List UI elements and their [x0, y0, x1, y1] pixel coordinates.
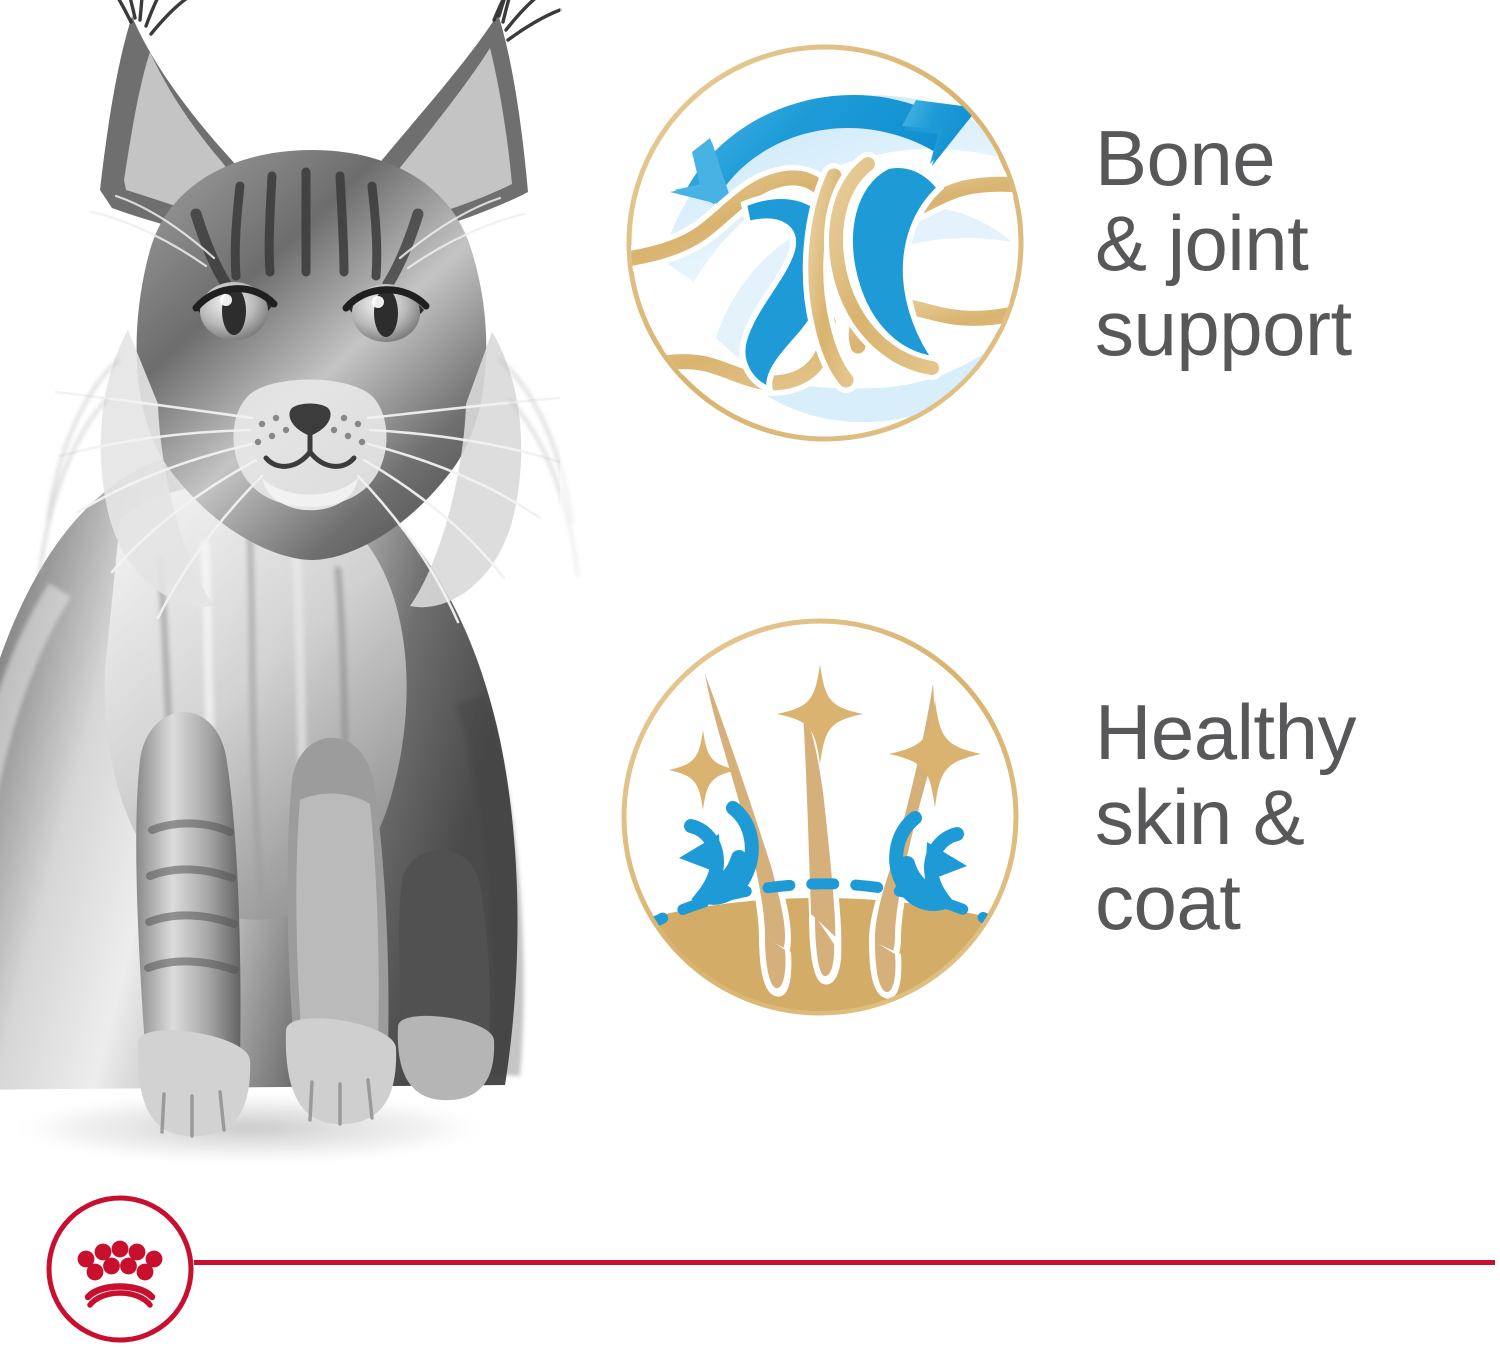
- maine-coon-cat-photo: [0, 0, 620, 1200]
- benefit-label-skin-coat: Healthy skin & coat: [1025, 690, 1455, 945]
- benefit-label-bone-joint: Bone & joint support: [1030, 116, 1460, 371]
- brand-rule: [194, 1260, 1495, 1265]
- royal-canin-crown-logo: [44, 1193, 196, 1345]
- brand-footer: [0, 1190, 1500, 1347]
- benefit-item-bone-joint: Bone & joint support: [620, 38, 1460, 448]
- bone-joint-icon: [620, 38, 1030, 448]
- benefit-item-skin-coat: Healthy skin & coat: [615, 612, 1455, 1022]
- product-benefits-panel: Bone & joint support: [0, 0, 1500, 1347]
- healthy-skin-coat-icon: [615, 612, 1025, 1022]
